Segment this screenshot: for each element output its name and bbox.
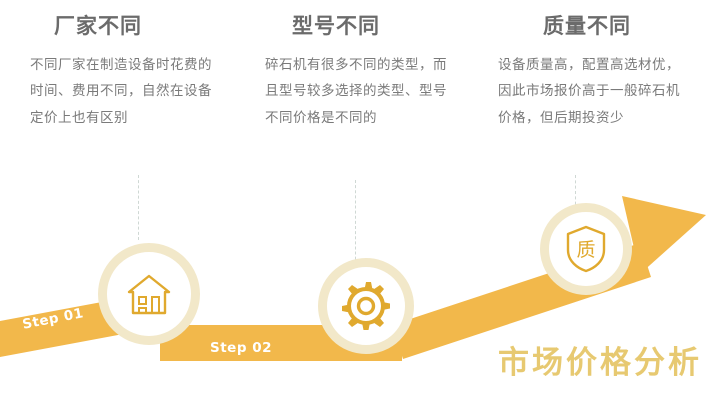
column-3-body: 设备质量高，配置高选材优，因此市场报价高于一般碎石机价格，但后期投资少 <box>498 52 683 131</box>
house-icon <box>107 252 191 336</box>
column-3: 质量不同 设备质量高，配置高选材优，因此市场报价高于一般碎石机价格，但后期投资少 <box>498 10 683 131</box>
svg-text:质: 质 <box>576 239 595 261</box>
badge-1 <box>98 243 200 345</box>
column-3-title: 质量不同 <box>498 10 683 40</box>
column-2-body: 碎石机有很多不同的类型，而且型号较多选择的类型、型号不同价格是不同的 <box>265 52 450 131</box>
connector-line-1 <box>138 175 139 240</box>
badge-3: 质 <box>540 203 632 295</box>
column-2-title: 型号不同 <box>265 10 450 40</box>
column-1-title: 厂家不同 <box>30 10 215 40</box>
column-1-body: 不同厂家在制造设备时花费的时间、费用不同，自然在设备定价上也有区别 <box>30 52 215 131</box>
badge-2 <box>318 258 414 354</box>
step-label-2: Step 02 <box>210 340 272 356</box>
shield-quality-icon: 质 <box>549 212 623 286</box>
watermark-text: 市场价格分析 <box>498 337 702 382</box>
column-2: 型号不同 碎石机有很多不同的类型，而且型号较多选择的类型、型号不同价格是不同的 <box>265 10 450 131</box>
column-1: 厂家不同 不同厂家在制造设备时花费的时间、费用不同，自然在设备定价上也有区别 <box>30 10 215 131</box>
gear-icon <box>327 267 405 345</box>
infographic-stage: 厂家不同 不同厂家在制造设备时花费的时间、费用不同，自然在设备定价上也有区别 型… <box>0 0 720 400</box>
